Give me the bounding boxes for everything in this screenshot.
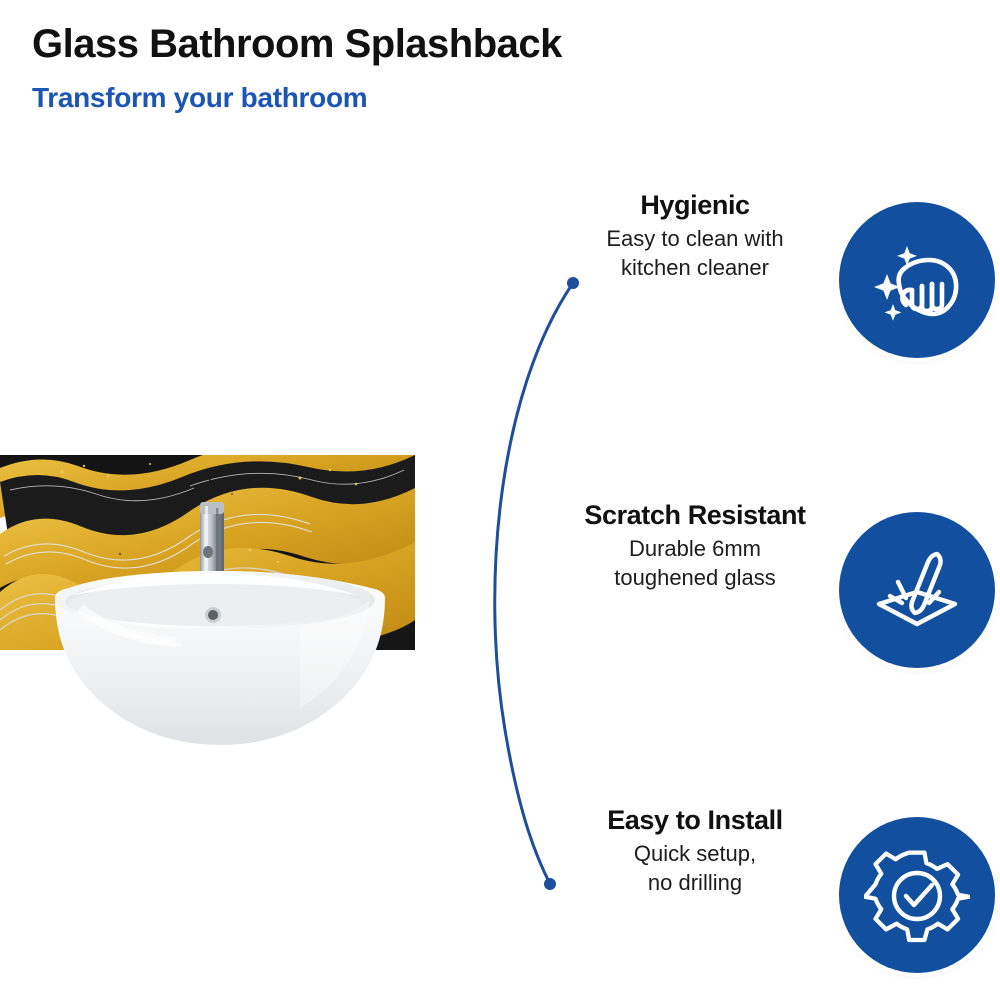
feature-scratch-resistant-title: Scratch Resistant <box>520 500 870 531</box>
page-title: Glass Bathroom Splashback <box>32 22 562 67</box>
product-image <box>0 450 420 760</box>
hand-wiping-sparkle-icon <box>865 228 969 332</box>
feature-hygienic-title: Hygienic <box>520 190 870 221</box>
feature-scratch-resistant: Scratch Resistant Durable 6mm toughened … <box>520 500 1000 670</box>
sparkle-shapes <box>874 246 917 321</box>
feature-scratch-resistant-text: Scratch Resistant Durable 6mm toughened … <box>520 500 870 592</box>
hand-wiping-sparkle-icon-badge <box>839 202 995 358</box>
feature-hygienic-description: Easy to clean with kitchen cleaner <box>520 225 870 282</box>
gear-checkmark-icon <box>864 842 970 948</box>
feature-easy-to-install-text: Easy to Install Quick setup, no drilling <box>520 805 870 897</box>
feature-hygienic-text: Hygienic Easy to clean with kitchen clea… <box>520 190 870 282</box>
feature-hygienic-desc-line1: Easy to clean with <box>520 225 870 254</box>
infographic-page: Glass Bathroom Splashback Transform your… <box>0 0 1000 1000</box>
feature-easy-to-install-desc-line1: Quick setup, <box>520 840 870 869</box>
knife-scratch-surface-icon <box>865 538 969 642</box>
knife-scratch-surface-icon-badge <box>839 512 995 668</box>
feature-easy-to-install-description: Quick setup, no drilling <box>520 840 870 897</box>
feature-easy-to-install-desc-line2: no drilling <box>520 869 870 898</box>
page-subtitle: Transform your bathroom <box>32 82 367 114</box>
basin-bowl <box>55 571 385 745</box>
feature-hygienic: Hygienic Easy to clean with kitchen clea… <box>520 190 1000 360</box>
gear-checkmark-icon-badge <box>839 817 995 973</box>
feature-easy-to-install: Easy to Install Quick setup, no drilling <box>520 805 1000 975</box>
feature-easy-to-install-title: Easy to Install <box>520 805 870 836</box>
feature-scratch-resistant-desc-line2: toughened glass <box>520 564 870 593</box>
feature-scratch-resistant-desc-line1: Durable 6mm <box>520 535 870 564</box>
feature-hygienic-desc-line2: kitchen cleaner <box>520 254 870 283</box>
feature-scratch-resistant-description: Durable 6mm toughened glass <box>520 535 870 592</box>
